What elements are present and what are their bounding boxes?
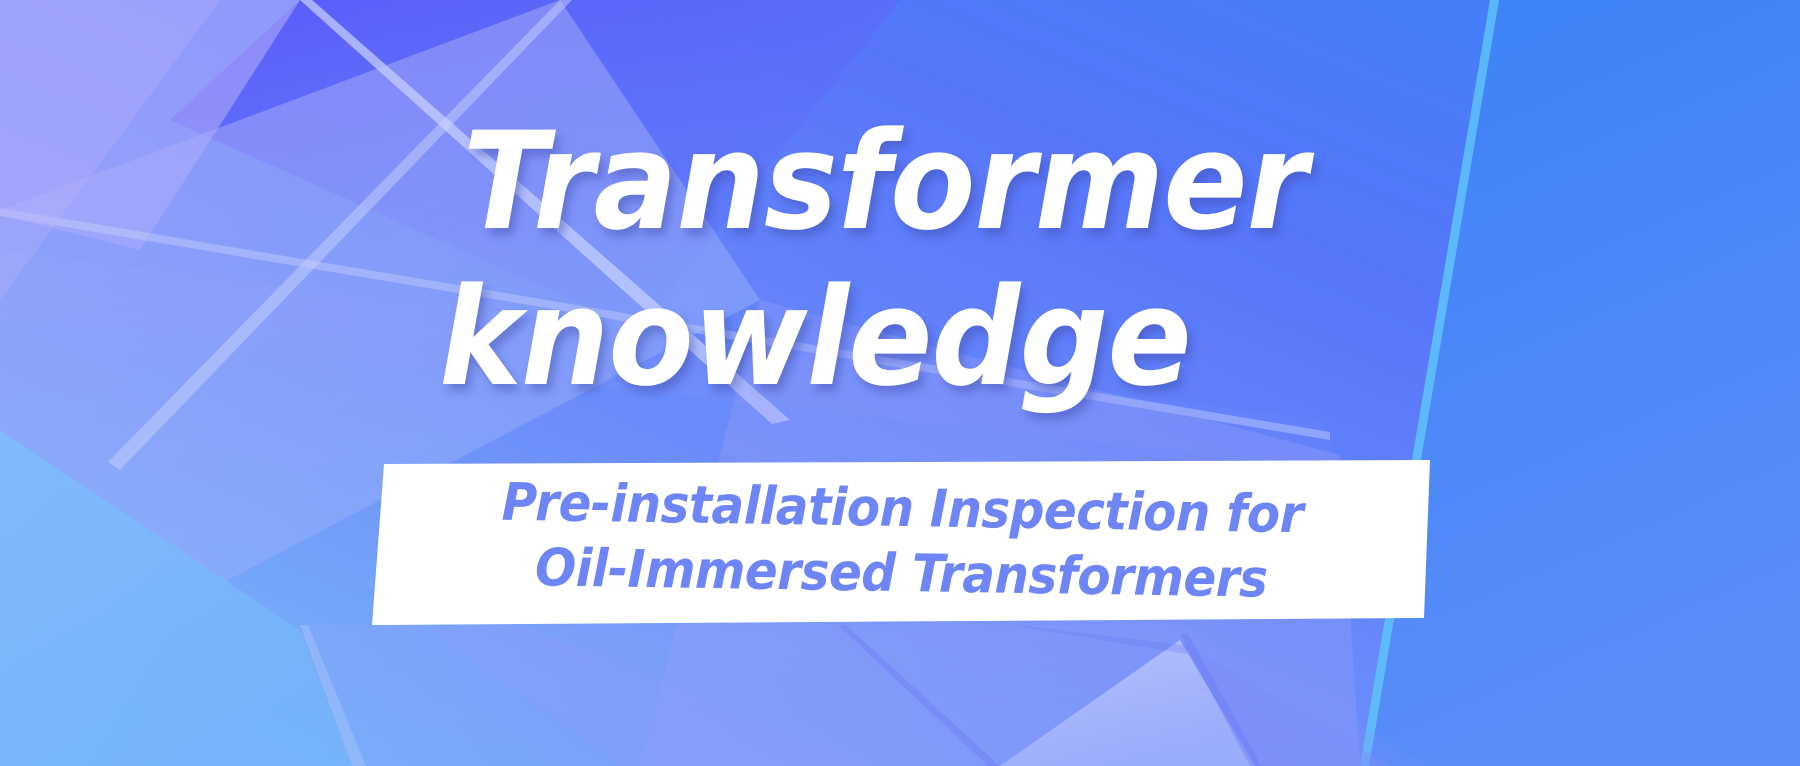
subtitle-line-1: Pre-installation Inspection for <box>501 471 1303 547</box>
subtitle-line-2: Oil-Immersed Transformers <box>535 537 1268 612</box>
subtitle-panel: Pre-installation Inspection for Oil-Imme… <box>372 458 1432 626</box>
hero-banner: Transformer knowledge Pre-installation I… <box>0 0 1800 766</box>
subtitle-text-block: Pre-installation Inspection for Oil-Imme… <box>371 450 1434 635</box>
background-geometry <box>0 0 1800 766</box>
